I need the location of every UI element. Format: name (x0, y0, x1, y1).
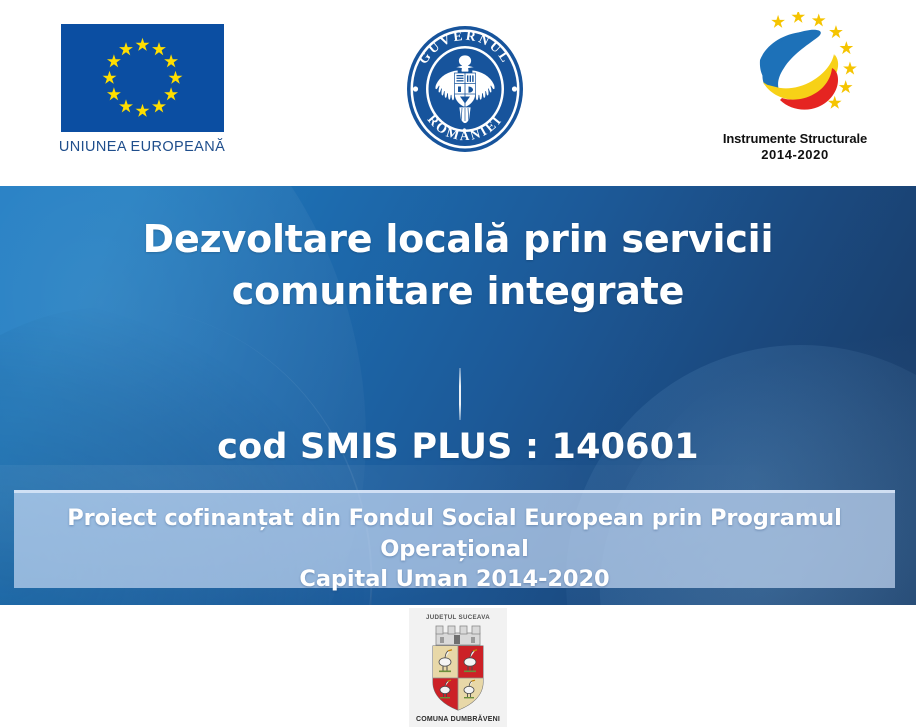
coat-of-arms-bottom-label: COMUNA DUMBRĂVENI (409, 716, 507, 723)
logo-strip: UNIUNEA EUROPEANĂ G (0, 0, 916, 186)
funding-banner-text: Proiect cofinanțat din Fondul Social Eur… (27, 503, 883, 595)
poster-root: UNIUNEA EUROPEANĂ G (0, 0, 916, 727)
funding-banner: Proiect cofinanțat din Fondul Social Eur… (14, 490, 895, 588)
eu-flag-icon (61, 24, 224, 132)
smis-code: cod SMIS PLUS : 140601 (40, 426, 876, 468)
structural-instruments-caption: Instrumente Structurale 2014-2020 (700, 131, 890, 164)
structural-instruments-logo: Instrumente Structurale 2014-2020 (700, 12, 890, 164)
coat-of-arms-top-label: JUDEȚUL SUCEAVA (409, 614, 507, 621)
gov-logo: GUVERNUL ROMÂNIEI (398, 17, 534, 163)
coat-of-arms-icon: JUDEȚUL SUCEAVA COMUNA DUMBRĂVENI (409, 608, 507, 727)
structural-instruments-caption-line1: Instrumente Structurale (700, 131, 890, 147)
eu-logo-caption: UNIUNEA EUROPEANĂ (48, 139, 236, 155)
page-title: Dezvoltare locală prin servicii comunita… (40, 214, 876, 317)
funding-banner-line1: Proiect cofinanțat din Fondul Social Eur… (27, 503, 883, 564)
structural-instruments-swoosh-icon (720, 12, 870, 130)
footer: JUDEȚUL SUCEAVA COMUNA DUMBRĂVENI (0, 605, 916, 727)
main-blue-panel: Dezvoltare locală prin servicii comunita… (0, 186, 916, 605)
funding-banner-line2: Capital Uman 2014-2020 (27, 564, 883, 595)
romanian-government-seal-icon: GUVERNUL ROMÂNIEI (398, 17, 532, 161)
divider-tick (459, 368, 461, 420)
structural-instruments-caption-line2: 2014-2020 (700, 147, 890, 163)
eu-logo: UNIUNEA EUROPEANĂ (48, 24, 236, 155)
